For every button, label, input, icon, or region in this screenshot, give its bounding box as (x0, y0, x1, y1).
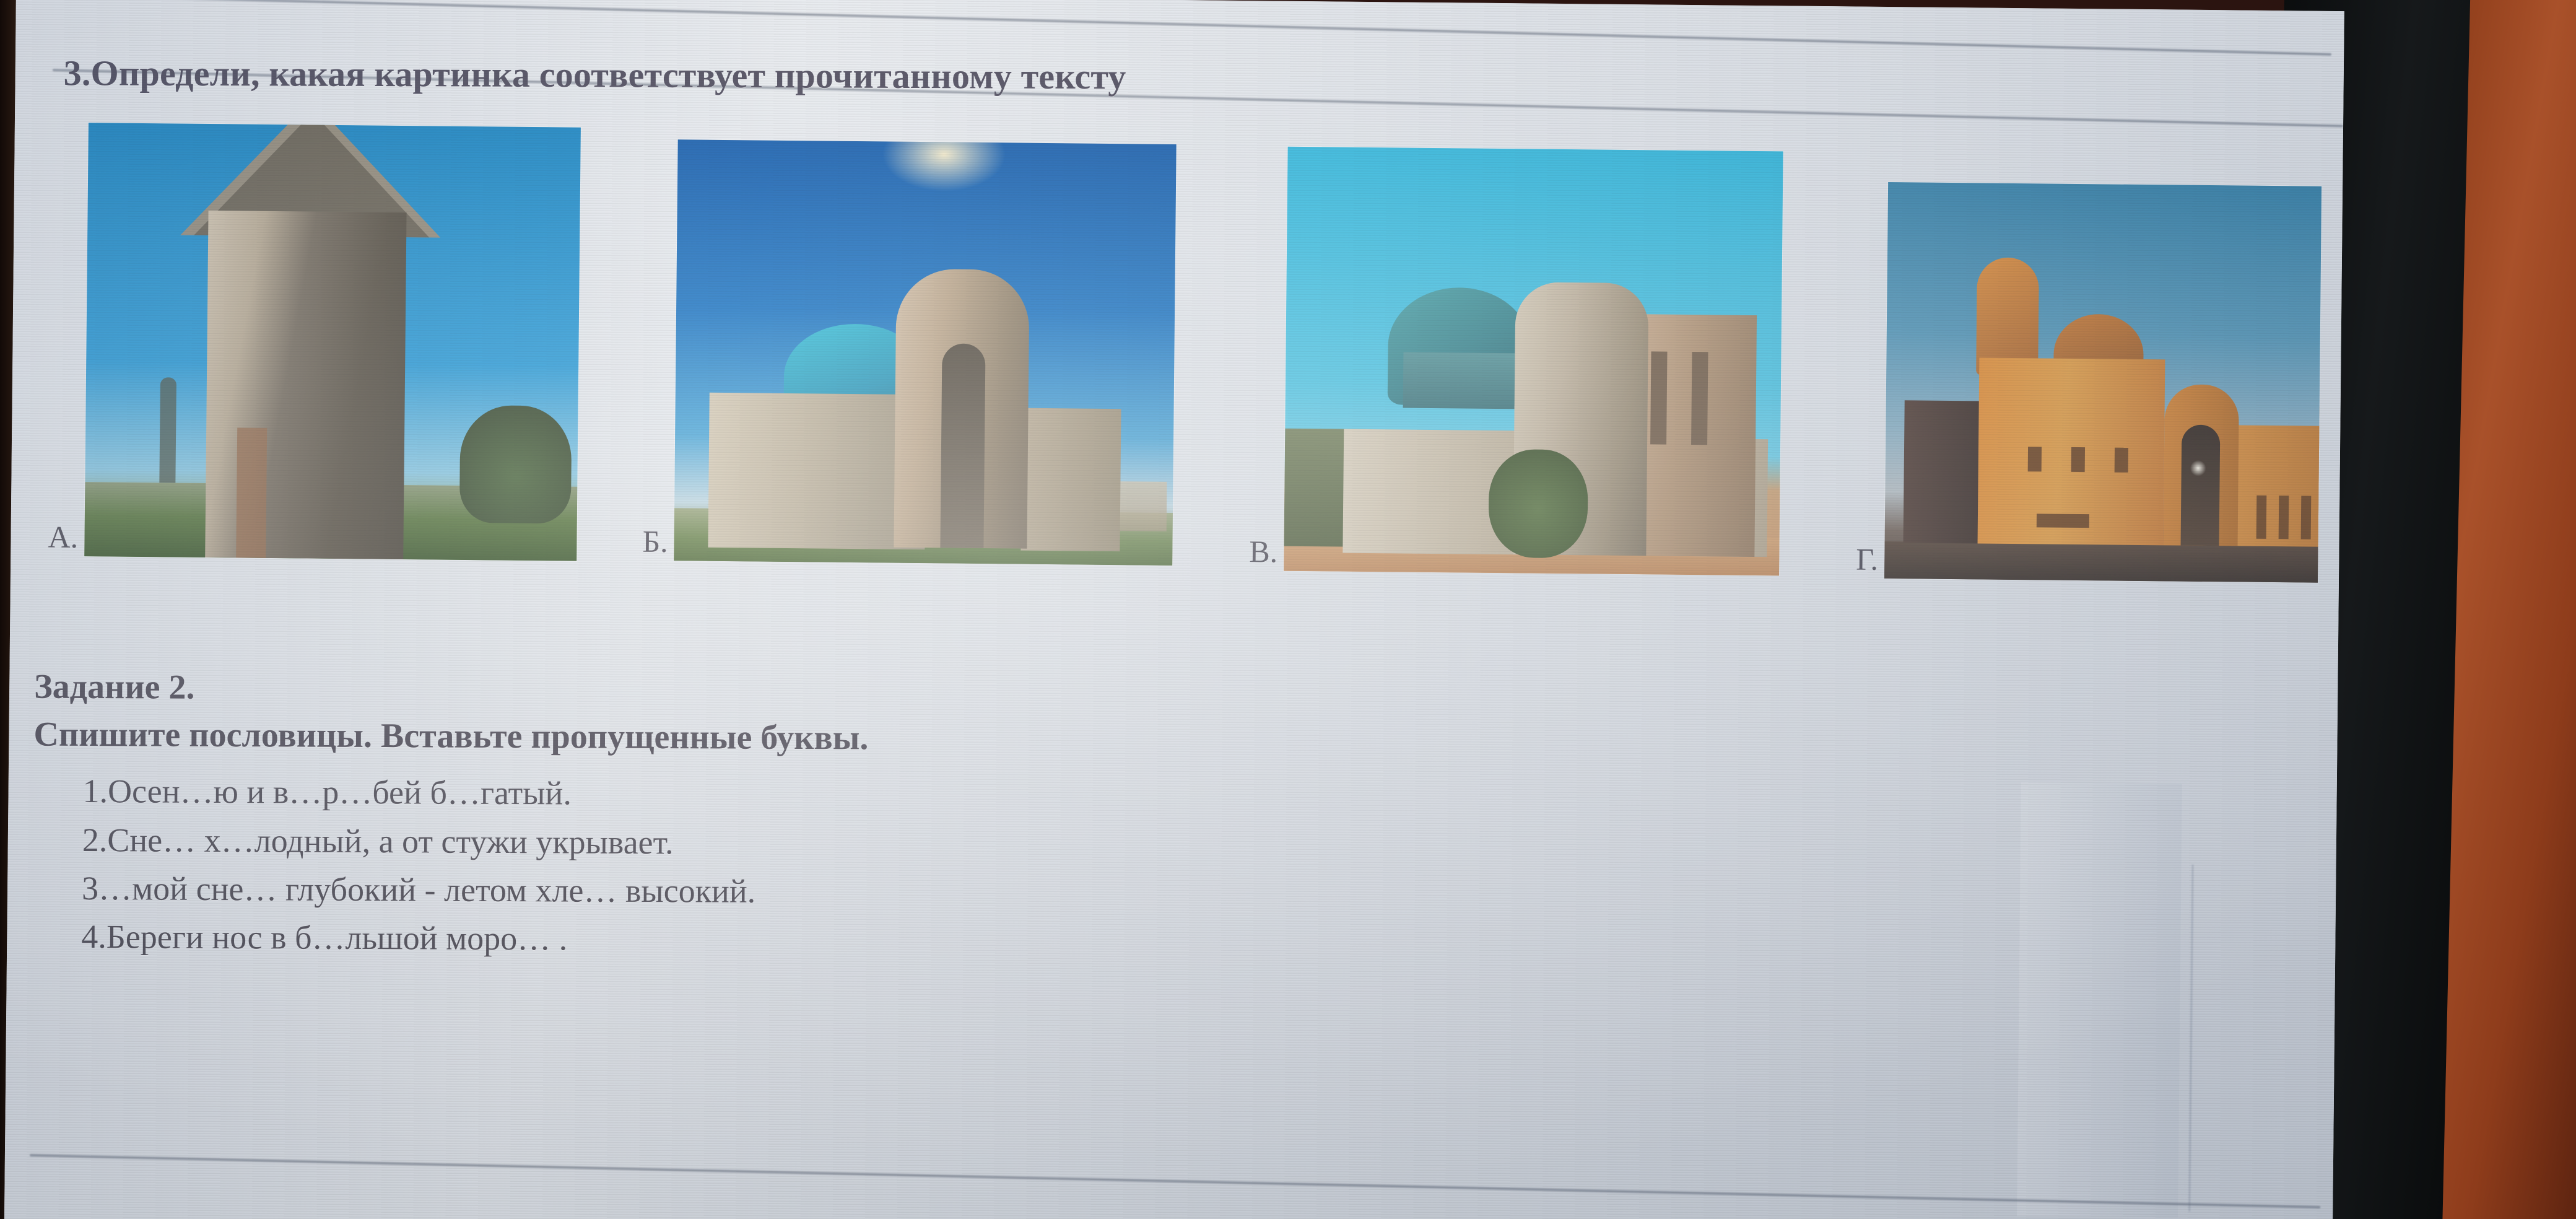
horizontal-rule-bottom (30, 1154, 2320, 1208)
answer-option-b-label: Б. (642, 526, 668, 561)
monitor-screen: 3.Определи, какая картинка соответствует… (4, 0, 2344, 1219)
photographed-screen-scene: 3.Определи, какая картинка соответствует… (0, 0, 2576, 1219)
scrollbar-seam[interactable] (2188, 865, 2193, 1212)
answer-option-c-image[interactable] (1284, 147, 1783, 576)
answer-option-b-image[interactable] (674, 139, 1176, 566)
sun-flare (882, 139, 1006, 192)
proverb-item: 4.Береги нос в б…льшой моро… . (56, 912, 1518, 968)
answer-option-b[interactable]: Б. (642, 139, 1177, 566)
window (2114, 448, 2128, 473)
window (2300, 496, 2311, 539)
document-page: 3.Определи, какая картинка соответствует… (4, 0, 2344, 1219)
proverb-list: 1.Осен…ю и в…р…бей б…гатый. 2.Сне… х…лод… (32, 763, 1520, 971)
mausoleum-wing (1021, 408, 1121, 552)
ground-foreground (1884, 541, 2318, 583)
window (2027, 447, 2041, 471)
proverb-item: 1.Осен…ю и в…р…бей б…гатый. (58, 767, 1519, 822)
dome-drum (1403, 352, 1515, 409)
answer-option-c[interactable]: В. (1249, 146, 1783, 575)
answer-option-c-label: В. (1249, 536, 1277, 570)
task-2-heading: Задание 2. (34, 665, 1520, 716)
window (2037, 513, 2089, 528)
tree-foreground (1488, 449, 1588, 559)
answer-options-row: А. Б. (47, 123, 2343, 634)
mausoleum-tower (205, 211, 406, 559)
task-2-instruction: Спишите пословицы. Вставьте пропущенные … (33, 712, 1520, 763)
horizontal-rule-top (90, 0, 2331, 56)
minaret (2318, 392, 2321, 548)
post-left (159, 377, 176, 483)
tree-right (459, 405, 572, 524)
question-3-title: 3.Определи, какая картинка соответствует… (64, 52, 1983, 100)
mausoleum-doorway (236, 427, 267, 557)
mausoleum-tower (1630, 314, 1757, 557)
scroll-gutter[interactable] (2017, 782, 2182, 1217)
answer-option-a[interactable]: А. (48, 123, 580, 561)
answer-option-d-image[interactable] (1884, 182, 2321, 583)
proverb-item: 2.Сне… х…лодный, а от стужи укрывает. (58, 816, 1519, 871)
answer-option-a-image[interactable] (84, 123, 581, 561)
light-glint (2190, 460, 2206, 476)
window (2256, 496, 2266, 539)
window (2071, 447, 2084, 472)
proverb-item: 3…мой сне… глубокий - летом хле… высокий… (57, 864, 1518, 919)
window (2278, 496, 2289, 539)
arch-recess (2180, 425, 2220, 546)
answer-option-d-label: Г. (1856, 544, 1878, 579)
answer-option-a-label: А. (48, 522, 78, 556)
answer-option-d[interactable]: Г. (1856, 182, 2321, 583)
task-2-block: Задание 2. Спишите пословицы. Вставьте п… (32, 661, 1521, 981)
portal-recess (941, 343, 986, 548)
shadowed-left-wall (1903, 400, 1985, 543)
